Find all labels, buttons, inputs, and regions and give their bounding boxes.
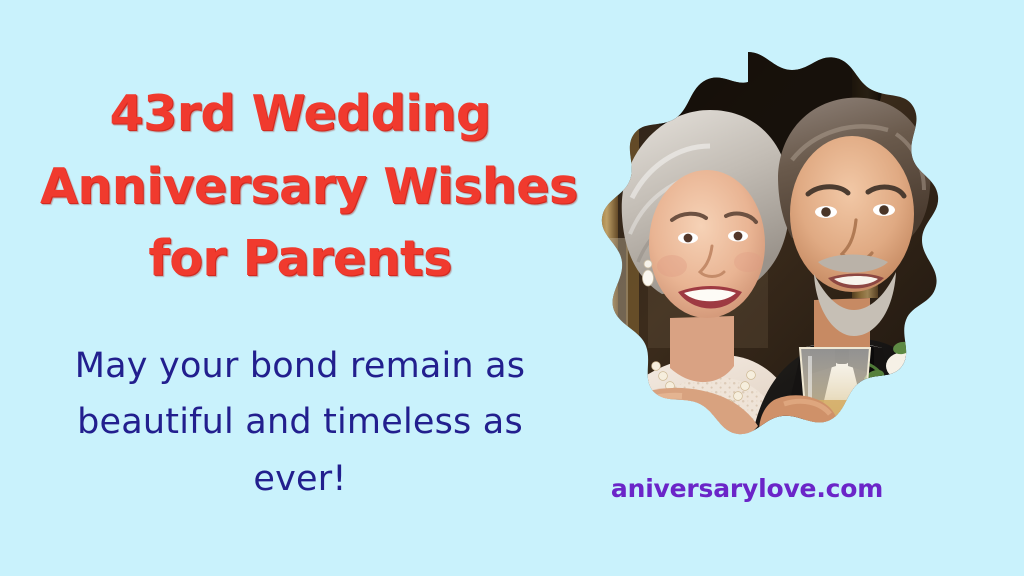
backdrop-light-panel — [570, 238, 628, 358]
boutonniere-leaf-2 — [874, 385, 902, 407]
couple-photo — [552, 48, 942, 473]
woman-neck — [670, 316, 734, 382]
text-column: 43rd Wedding Anniversary Wishes for Pare… — [40, 78, 560, 508]
headline-line-1: 43rd Wedding — [40, 78, 560, 151]
woman-eye-right-iris — [734, 232, 743, 241]
boutonniere-leaf-3 — [858, 392, 881, 416]
couple-photo-illustration — [552, 48, 942, 473]
man-eye-right-iris — [879, 205, 889, 215]
man-hand — [759, 395, 840, 465]
message-line-3: ever! — [40, 451, 560, 508]
message-text: May your bond remain as beautiful and ti… — [40, 338, 560, 508]
headline-line-3: for Parents — [40, 223, 560, 296]
hand-ring — [792, 442, 805, 451]
woman-eye-left-iris — [684, 234, 693, 243]
message-line-2: beautiful and timeless as — [40, 394, 560, 451]
boutonniere-rose-top — [886, 352, 922, 380]
woman-earring-pearl — [643, 270, 654, 286]
woman-cheek-right — [734, 252, 762, 272]
man-eye-left-iris — [821, 207, 831, 217]
boutonniere-rose-bottom — [874, 402, 914, 434]
site-watermark: aniversarylove.com — [552, 474, 942, 503]
anniversary-greeting-card: 43rd Wedding Anniversary Wishes for Pare… — [0, 0, 1024, 576]
hand-palm — [759, 395, 840, 465]
woman-cheek-left — [657, 255, 687, 277]
message-line-1: May your bond remain as — [40, 338, 560, 395]
woman-earring-top — [644, 260, 652, 268]
arm-highlight — [596, 396, 682, 434]
wine-glass — [800, 348, 870, 437]
headline-line-2: Anniversary Wishes — [40, 151, 560, 224]
photo-content — [552, 48, 942, 473]
page-title: 43rd Wedding Anniversary Wishes for Pare… — [40, 78, 560, 296]
backdrop-gold-column-left — [590, 78, 618, 378]
